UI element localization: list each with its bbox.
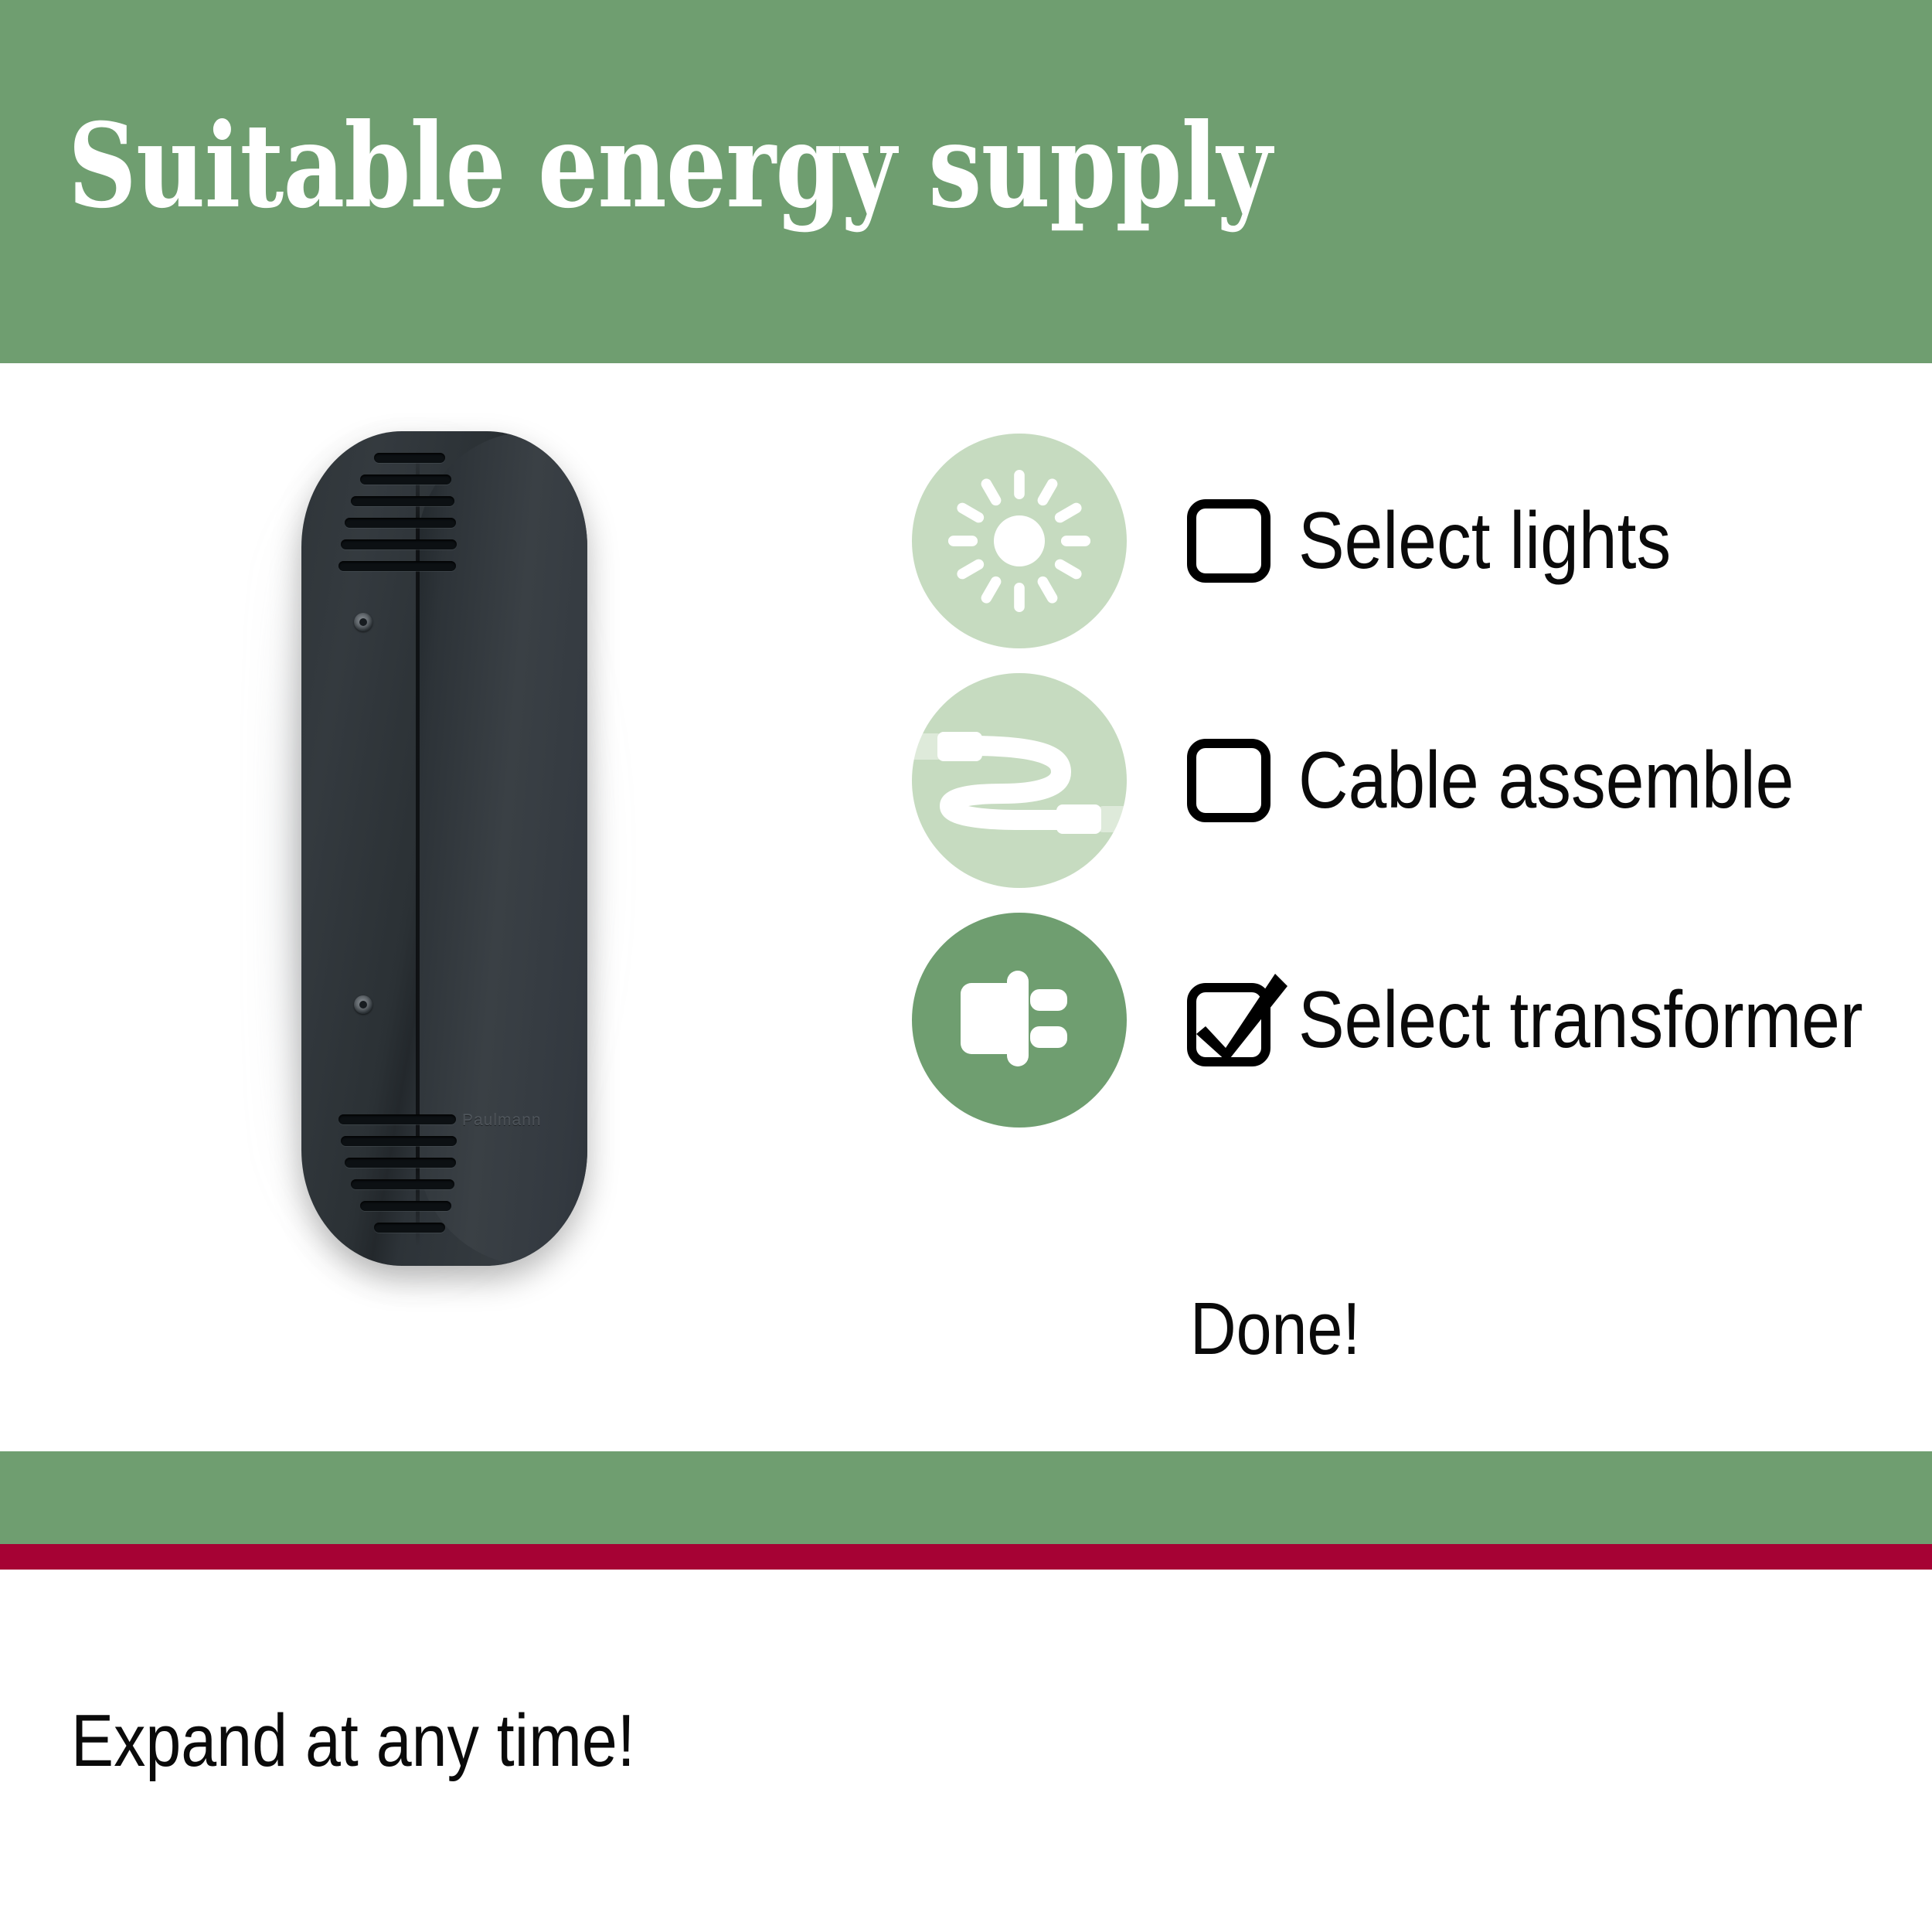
page-title: Suitable energy supply bbox=[68, 108, 1271, 224]
screw-icon bbox=[354, 995, 372, 1014]
vent-slot bbox=[341, 539, 457, 549]
infographic-page: Suitable energy supply bbox=[0, 0, 1932, 1932]
vent-slot bbox=[360, 474, 451, 485]
checklist-label: Select lights bbox=[1298, 495, 1671, 587]
done-text: Done! bbox=[1190, 1287, 1360, 1372]
checkbox-select-transformer[interactable] bbox=[1190, 981, 1267, 1059]
green-divider-band bbox=[0, 1451, 1932, 1544]
vent-slot bbox=[341, 1136, 457, 1146]
checklist-label: Cable assemble bbox=[1298, 735, 1794, 827]
vent-group-bottom bbox=[338, 1114, 458, 1244]
vent-slot bbox=[345, 518, 456, 528]
vent-slot bbox=[374, 453, 445, 463]
vent-slot bbox=[374, 1223, 445, 1233]
footer-text: Expand at any time! bbox=[71, 1699, 635, 1784]
product-body: Paulmann bbox=[301, 431, 587, 1266]
product-image: Paulmann bbox=[255, 386, 781, 1329]
checklist-item-select-transformer[interactable]: Select transformer bbox=[912, 900, 1917, 1140]
checkbox-cable-assemble[interactable] bbox=[1190, 742, 1267, 819]
cable-icon bbox=[912, 673, 1127, 888]
vent-slot bbox=[351, 496, 454, 506]
sun-icon bbox=[912, 434, 1127, 648]
vent-slot bbox=[351, 1179, 454, 1189]
checklist-item-select-lights[interactable]: Select lights bbox=[912, 421, 1917, 661]
screw-icon bbox=[354, 613, 372, 631]
checklist-item-cable-assemble[interactable]: Cable assemble bbox=[912, 661, 1917, 900]
header-band: Suitable energy supply bbox=[0, 0, 1932, 363]
checkbox-select-lights[interactable] bbox=[1190, 502, 1267, 580]
red-divider-band bbox=[0, 1544, 1932, 1570]
checklist-label: Select transformer bbox=[1298, 975, 1863, 1066]
brand-mark: Paulmann bbox=[462, 1111, 542, 1130]
vent-slot bbox=[360, 1201, 451, 1211]
vent-slot bbox=[338, 561, 456, 571]
checklist: Select lights bbox=[912, 421, 1917, 1140]
vent-group-top bbox=[338, 453, 458, 583]
plug-icon bbox=[912, 913, 1127, 1128]
vent-slot bbox=[345, 1158, 456, 1168]
vent-slot bbox=[338, 1114, 456, 1124]
